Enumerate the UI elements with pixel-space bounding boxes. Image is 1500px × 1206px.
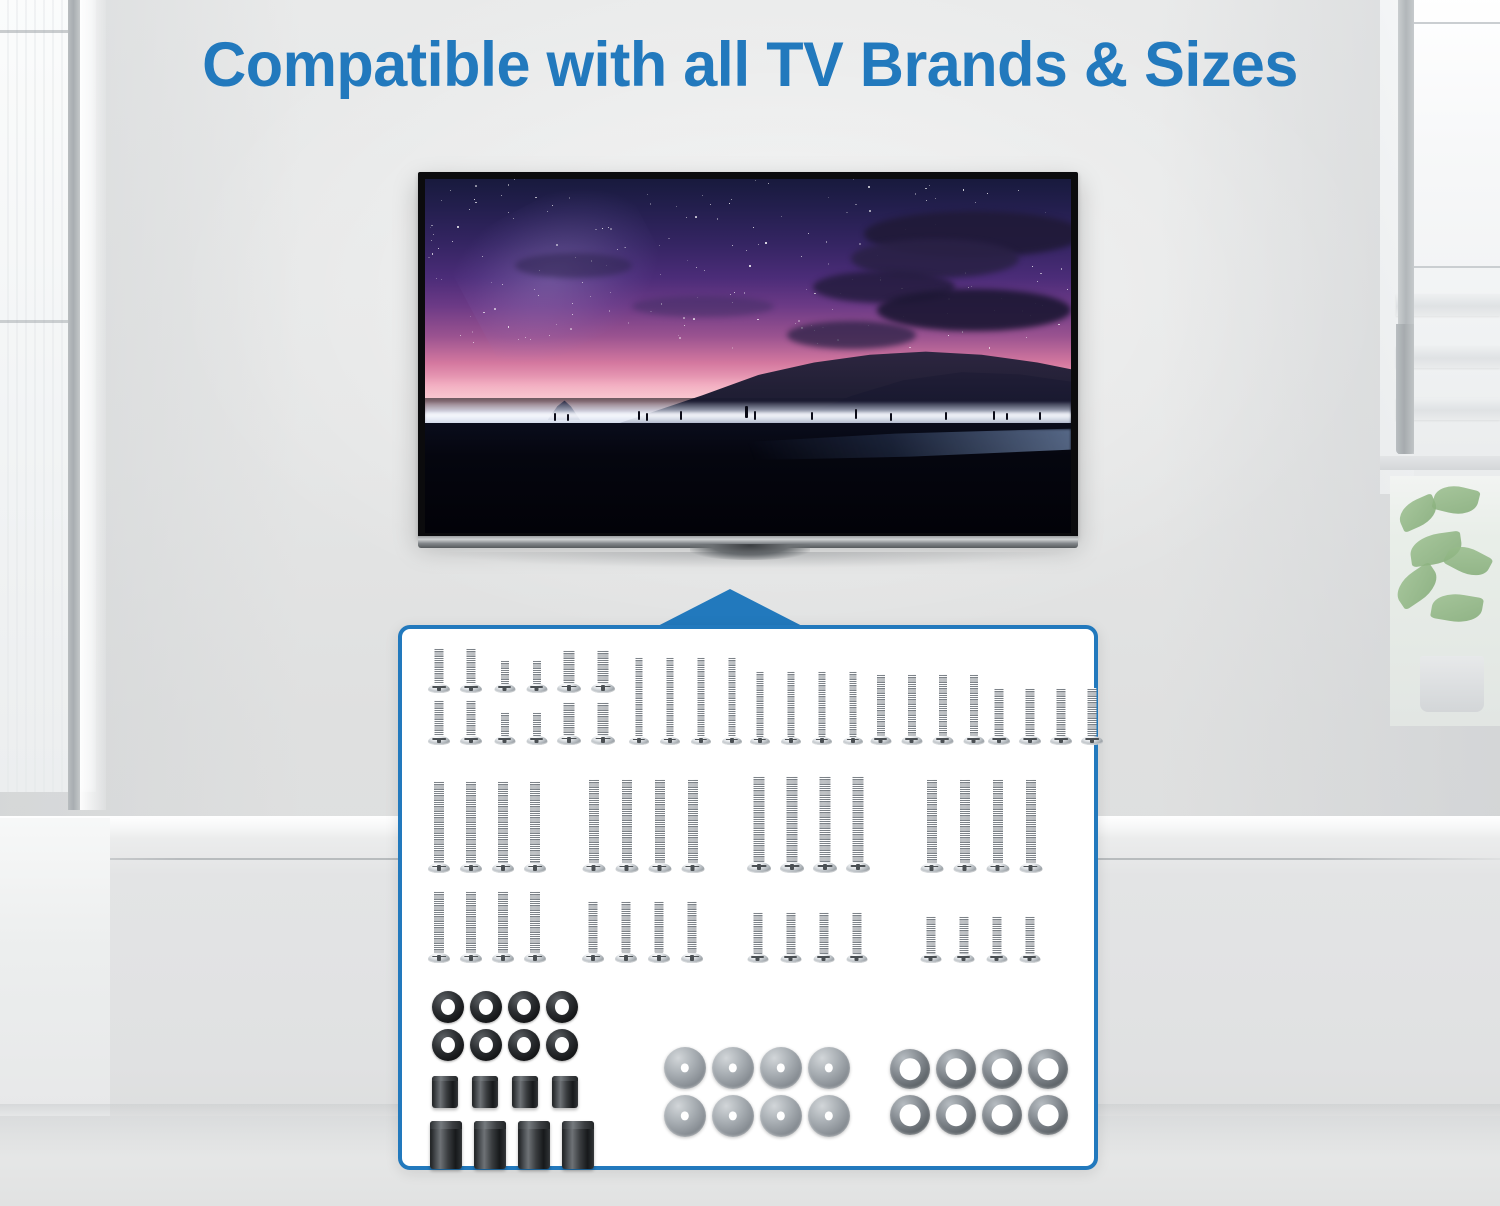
screws-row1-group5 [843,671,863,745]
screws-row3-group1 [460,891,482,963]
large-flat-washers [712,1047,754,1089]
large-flat-washers [664,1047,706,1089]
screws-row3-group2 [615,901,637,963]
screws-row2-group2 [582,779,605,873]
window-mullion-left-top [0,30,72,33]
large-flat-washers [808,1095,850,1137]
person [855,409,857,419]
cloud-4 [877,289,1071,331]
tall-spacers [474,1121,506,1169]
person [890,413,892,421]
screws-row2-group1 [492,781,514,873]
ring-washers [1028,1049,1068,1089]
large-flat-washers [808,1047,850,1089]
screws-row3-group2 [582,901,604,963]
screws-row1-group5 [781,671,801,745]
window-frame-left [68,0,80,810]
screws-row1-group3 [557,650,581,693]
screws-row3-group4 [986,916,1007,963]
screws-row2-group4 [920,779,943,873]
screws-row1-group1 [460,700,482,745]
person [638,411,640,420]
screws-row1-group5 [812,671,832,745]
person [646,413,648,421]
screws-row3-group2 [681,901,703,963]
shade-strap-end [1396,324,1414,454]
black-washers [432,1029,464,1061]
console-left-face [0,818,110,1144]
screws-row2-group3 [780,776,804,873]
hardware-contents [402,629,1094,1166]
ring-washers [982,1049,1022,1089]
screws-row3-group3 [747,912,768,963]
window-mullion-right-top [1414,22,1500,24]
tall-spacers [562,1121,594,1169]
screws-row1-group1 [460,648,482,693]
person [945,412,947,420]
screws-row1-group2 [494,712,515,745]
screws-row2-group2 [648,779,671,873]
screws-row3-group2 [648,901,670,963]
screws-row1-group4 [691,657,711,745]
ring-washers [982,1095,1022,1135]
large-flat-washers [760,1095,802,1137]
cloud-7 [632,296,774,317]
screws-row1-group4 [722,657,742,745]
sheer-curtain-left [0,0,72,792]
black-washers [546,991,578,1023]
screws-row1-group3 [591,650,615,693]
hardware-kit-panel [398,625,1098,1170]
screws-row3-group1 [524,891,546,963]
person [811,412,813,420]
tv-screen [425,179,1071,533]
cloud-6 [515,253,631,278]
screws-row3-group1 [492,891,514,963]
screws-row1-group7 [1050,688,1072,745]
screws-row2-group4 [1019,779,1042,873]
person [567,414,569,421]
screws-row1-group7 [1081,688,1103,745]
plant-pot [1420,656,1484,712]
screws-row3-group4 [920,916,941,963]
window-mullion-left-bottom [0,320,72,323]
screws-row1-group7 [988,688,1010,745]
screws-row2-group4 [953,779,976,873]
short-spacers [472,1076,498,1108]
screws-row2-group2 [681,779,704,873]
black-washers [508,991,540,1023]
black-washers [470,991,502,1023]
window-mullion-right-bottom [1414,266,1500,268]
screws-row1-group1 [428,648,450,693]
screws-row2-group3 [846,776,870,873]
black-washers [432,991,464,1023]
tall-spacers [518,1121,550,1169]
short-spacers [512,1076,538,1108]
screws-row1-group6 [870,674,891,745]
screws-row2-group1 [428,781,450,873]
screws-row1-group6 [932,674,953,745]
person [554,413,556,421]
screws-row2-group1 [460,781,482,873]
window-sill-right [1380,456,1500,470]
ring-washers [1028,1095,1068,1135]
tv-drop-shadow [440,552,1060,568]
screws-row1-group3 [557,702,581,745]
black-washers [546,1029,578,1061]
person [745,406,748,418]
screws-row3-group4 [1019,916,1040,963]
screws-row1-group7 [1019,688,1041,745]
large-flat-washers [760,1047,802,1089]
screws-row2-group3 [747,776,771,873]
screws-row1-group2 [526,712,547,745]
screws-row1-group6 [963,674,984,745]
screws-row3-group4 [953,916,974,963]
screws-row1-group3 [591,702,615,745]
person [1039,412,1041,420]
screws-row2-group2 [615,779,638,873]
television [418,172,1078,538]
short-spacers [552,1076,578,1108]
tall-spacers [430,1121,462,1169]
house-plant [1390,476,1500,726]
screws-row3-group3 [813,912,834,963]
cloud-5 [787,321,916,349]
ring-washers [936,1095,976,1135]
ring-washers [936,1049,976,1089]
screws-row2-group4 [986,779,1009,873]
large-flat-washers [664,1095,706,1137]
ring-washers [890,1049,930,1089]
headline-text: Compatible with all TV Brands & Sizes [23,34,1478,97]
screws-row3-group1 [428,891,450,963]
black-washers [470,1029,502,1061]
screws-row3-group3 [780,912,801,963]
screws-row2-group1 [524,781,546,873]
wall-edge-left [80,0,106,810]
screws-row3-group3 [846,912,867,963]
ring-washers [890,1095,930,1135]
screws-row1-group6 [901,674,922,745]
screws-row1-group4 [660,657,680,745]
screws-row1-group4 [629,657,649,745]
screws-row1-group2 [526,660,547,693]
large-flat-washers [712,1095,754,1137]
person [680,411,682,420]
screws-row2-group3 [813,776,837,873]
short-spacers [432,1076,458,1108]
screws-row1-group5 [750,671,770,745]
screenshot-stage: Compatible with all TV Brands & Sizes [0,0,1500,1206]
screws-row1-group1 [428,700,450,745]
screws-row1-group2 [494,660,515,693]
black-washers [508,1029,540,1061]
